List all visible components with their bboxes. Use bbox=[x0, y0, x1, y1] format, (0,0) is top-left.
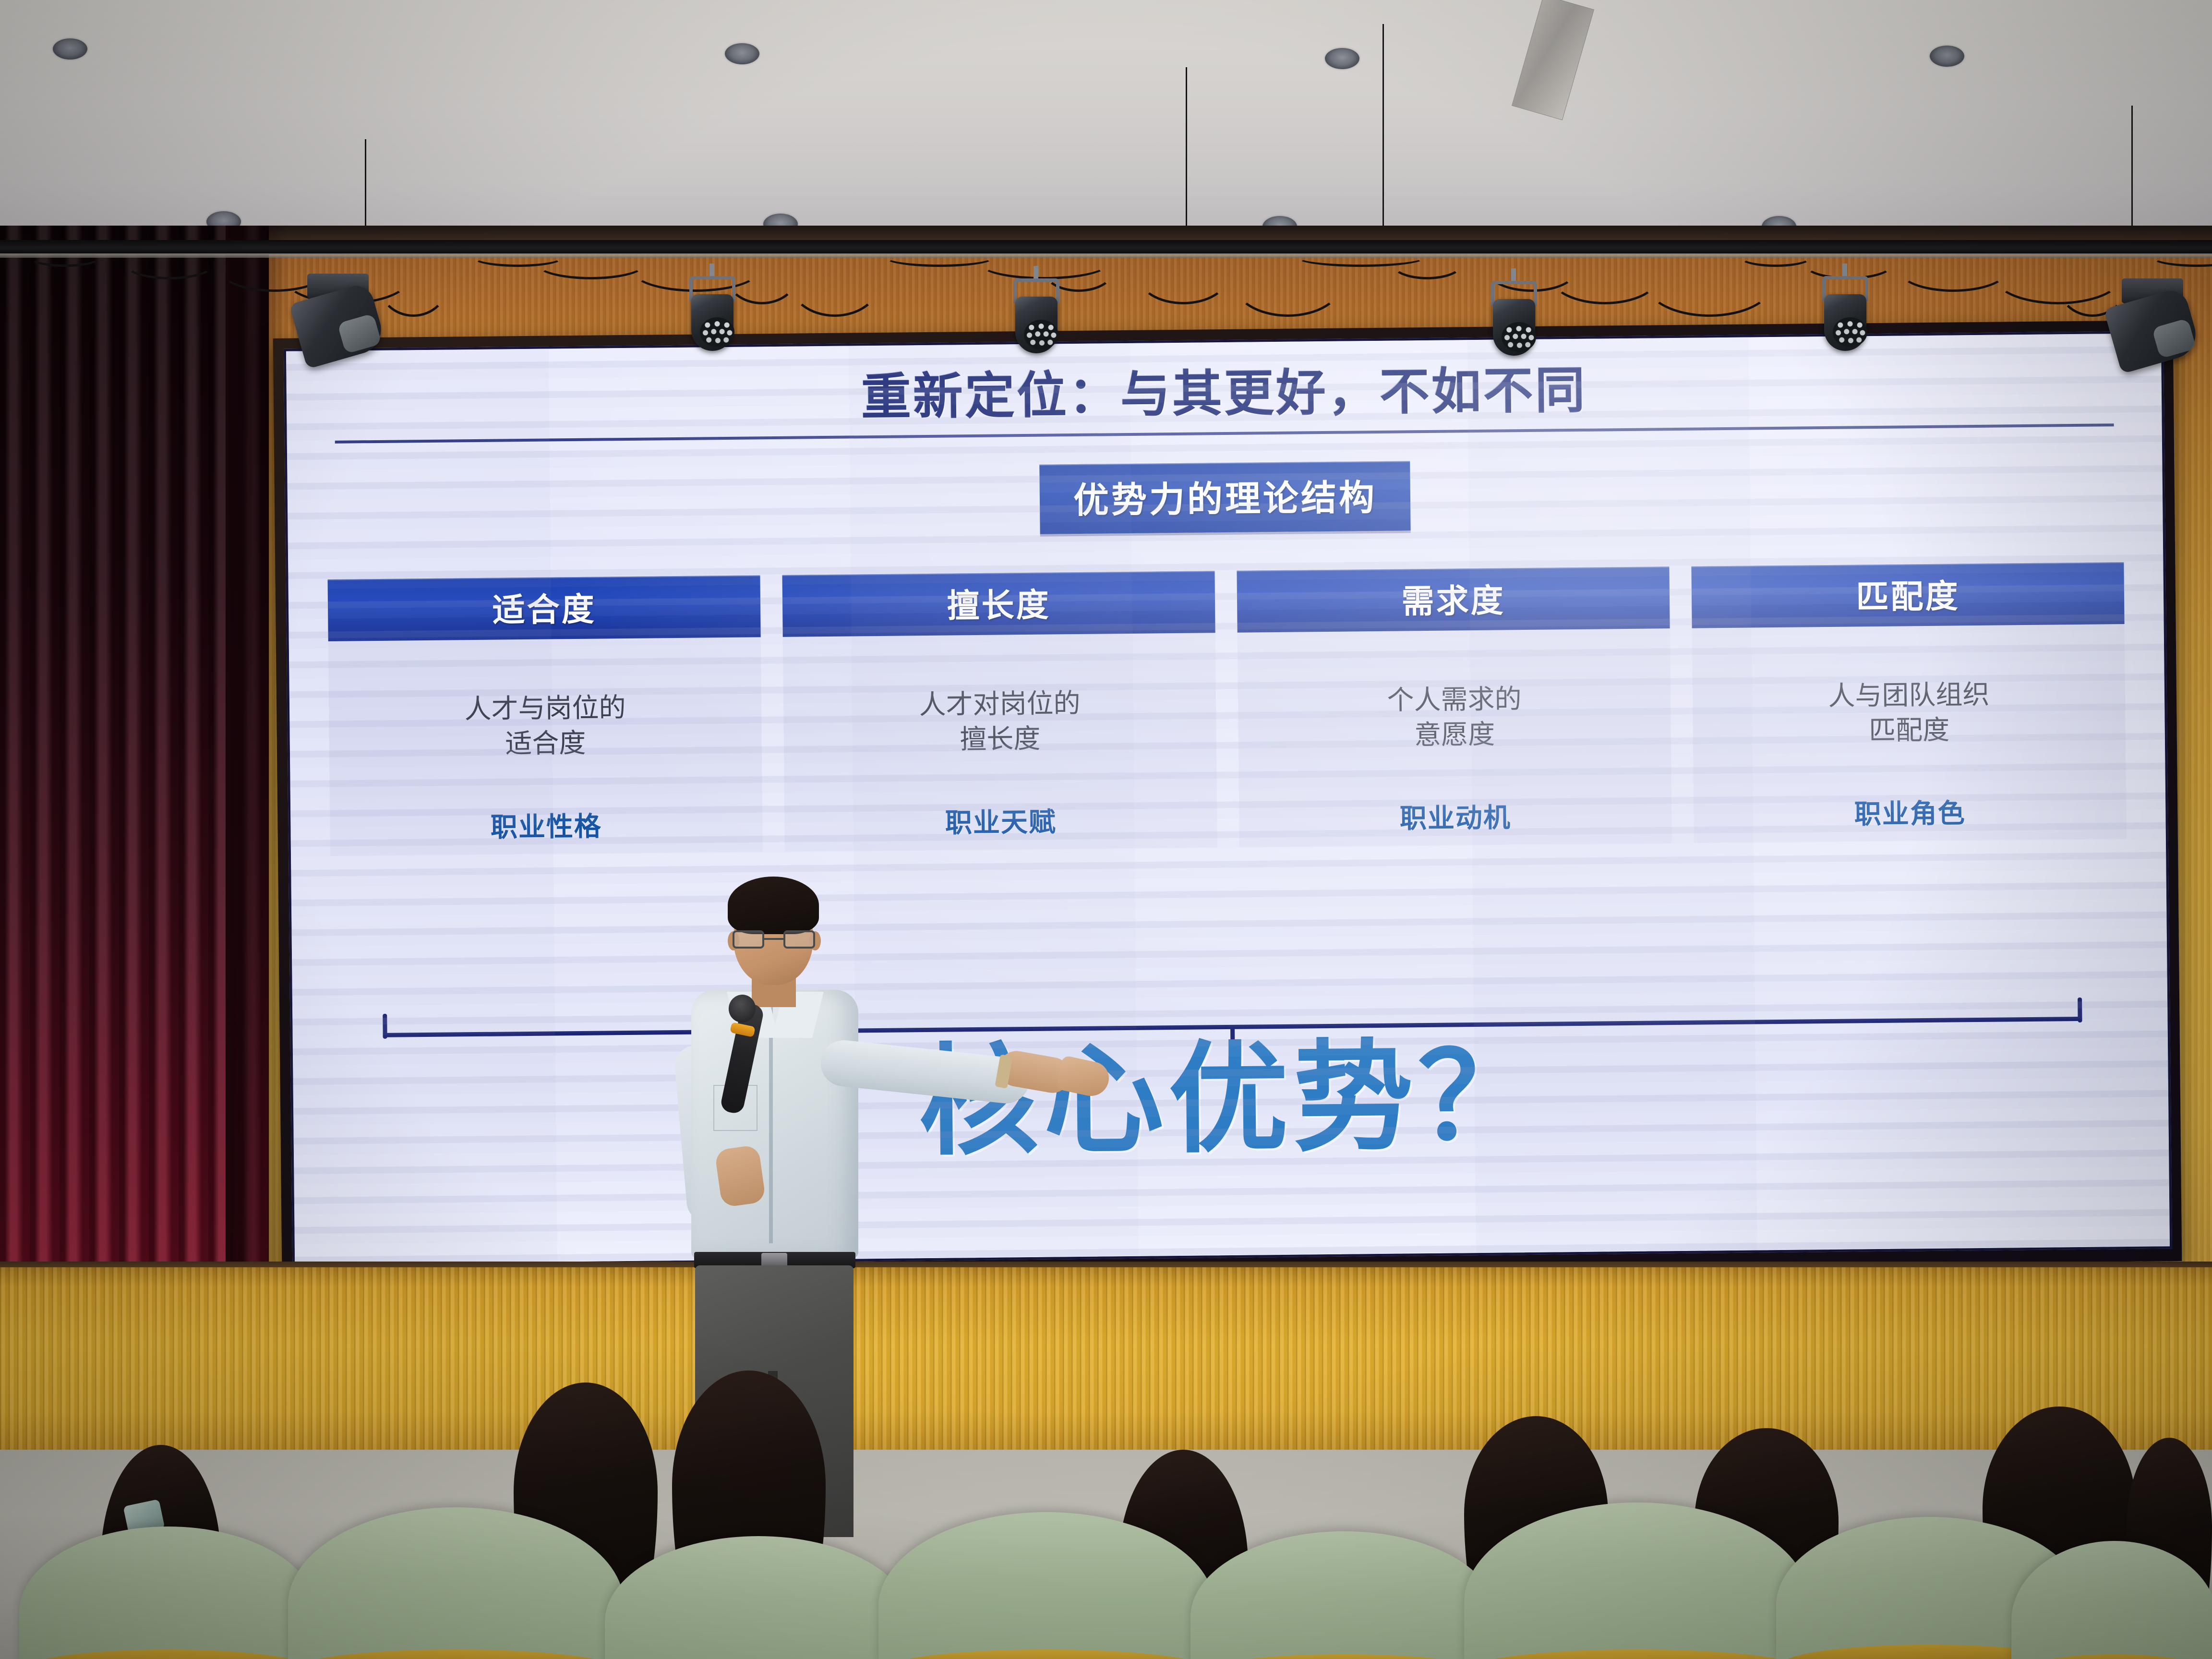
led-screen[interactable]: 重新定位：与其更好，不如不同 优势力的理论结构 适合度人才与岗位的 适合度职业性… bbox=[284, 331, 2172, 1267]
chair-gold-trim bbox=[295, 1649, 617, 1659]
cable-swag bbox=[536, 248, 646, 279]
concept-card-footer: 职业性格 bbox=[329, 759, 763, 846]
cable-swag bbox=[29, 248, 101, 267]
concept-card-4: 匹配度人与团队组织 匹配度职业角色 bbox=[1691, 562, 2126, 842]
cable-swag bbox=[1898, 248, 2008, 292]
concept-card-header: 适合度 bbox=[328, 576, 761, 642]
par-light-3-icon bbox=[1488, 281, 1540, 362]
concept-card-header: 需求度 bbox=[1237, 566, 1670, 633]
light-body bbox=[1493, 299, 1535, 356]
light-lens-array bbox=[1024, 320, 1058, 349]
concept-card-footer: 职业动机 bbox=[1238, 750, 1672, 838]
concept-card-2: 擅长度人才对岗位的 擅长度职业天赋 bbox=[782, 571, 1217, 851]
downlight-icon-3 bbox=[1325, 48, 1359, 69]
light-body bbox=[1015, 297, 1058, 353]
concept-card-1: 适合度人才与岗位的 适合度职业性格 bbox=[328, 576, 763, 856]
light-body bbox=[1824, 294, 1866, 351]
chair-gold-trim bbox=[1471, 1649, 1803, 1659]
par-light-2-icon bbox=[1010, 278, 1062, 360]
suspension-wire bbox=[1186, 67, 1187, 226]
suspension-wire bbox=[2131, 106, 2133, 226]
slide-banner-wrap: 优势力的理论结构 bbox=[314, 454, 2136, 541]
slide-banner: 优势力的理论结构 bbox=[1039, 461, 1410, 534]
slide-title: 重新定位：与其更好，不如不同 bbox=[313, 360, 2135, 430]
suspension-wire bbox=[1382, 24, 1384, 226]
concept-card-footer: 职业角色 bbox=[1693, 746, 2127, 833]
light-lens-array bbox=[1833, 317, 1867, 347]
brace-cap-right bbox=[2078, 998, 2082, 1022]
ceiling bbox=[0, 0, 2212, 235]
concept-card-header: 擅长度 bbox=[782, 571, 1215, 637]
suspension-wire bbox=[365, 139, 366, 226]
cable-swag bbox=[1740, 248, 1812, 267]
downlight-icon-2 bbox=[725, 43, 759, 64]
chair-gold-trim bbox=[885, 1649, 1208, 1659]
cable-swag bbox=[789, 248, 880, 317]
concept-card-header: 匹配度 bbox=[1691, 562, 2124, 628]
presenter-hair bbox=[728, 877, 819, 934]
glasses-icon bbox=[733, 930, 815, 950]
downlight-icon-4 bbox=[1930, 46, 1964, 67]
cable-swag bbox=[1391, 248, 1463, 279]
concept-card-footer: 职业天赋 bbox=[784, 755, 1217, 842]
led-screen-bezel: 重新定位：与其更好，不如不同 优势力的理论结构 适合度人才与岗位的 适合度职业性… bbox=[273, 320, 2182, 1279]
presenter bbox=[619, 859, 1051, 1382]
concept-card-body: 人与团队组织 匹配度 bbox=[1692, 624, 2126, 750]
concept-card-body: 人才对岗位的 擅长度 bbox=[783, 633, 1216, 758]
par-light-1-icon bbox=[686, 276, 738, 358]
cable-swag bbox=[1138, 248, 1229, 304]
cable-swag bbox=[1803, 248, 1894, 279]
stage-skirt-paneling bbox=[0, 1267, 2212, 1459]
concept-card-3: 需求度个人需求的 意愿度职业动机 bbox=[1237, 566, 1671, 847]
concept-card-body: 人才与岗位的 适合度 bbox=[328, 637, 762, 763]
presenter-left-hand bbox=[714, 1144, 766, 1208]
cable-swag bbox=[884, 248, 995, 267]
moving-head-light-left-icon bbox=[288, 274, 389, 370]
auditorium-scene: 重新定位：与其更好，不如不同 优势力的理论结构 适合度人才与岗位的 适合度职业性… bbox=[0, 0, 2212, 1659]
slide-headline: 核心优势？ bbox=[293, 1030, 2169, 1168]
light-lens-array bbox=[1502, 322, 1536, 352]
presentation-slide: 重新定位：与其更好，不如不同 优势力的理论结构 适合度人才与岗位的 适合度职业性… bbox=[286, 333, 2170, 1264]
moving-head-light-right-icon bbox=[2103, 278, 2203, 374]
par-light-4-icon bbox=[1819, 276, 1871, 358]
light-body bbox=[691, 294, 733, 351]
cable-swag bbox=[1550, 248, 1660, 304]
concept-card-row: 适合度人才与岗位的 适合度职业性格擅长度人才对岗位的 擅长度职业天赋需求度个人需… bbox=[328, 562, 2127, 855]
light-lens-array bbox=[700, 317, 734, 347]
chair-gold-trim bbox=[2016, 1654, 2212, 1659]
chair-gold-trim bbox=[25, 1649, 311, 1659]
chair-gold-trim bbox=[1197, 1654, 1491, 1659]
concept-card-body: 个人需求的 意愿度 bbox=[1238, 628, 1671, 754]
presenter-shirt-placket bbox=[769, 1003, 773, 1243]
cable-swag bbox=[124, 248, 215, 279]
downlight-icon-1 bbox=[53, 38, 87, 60]
